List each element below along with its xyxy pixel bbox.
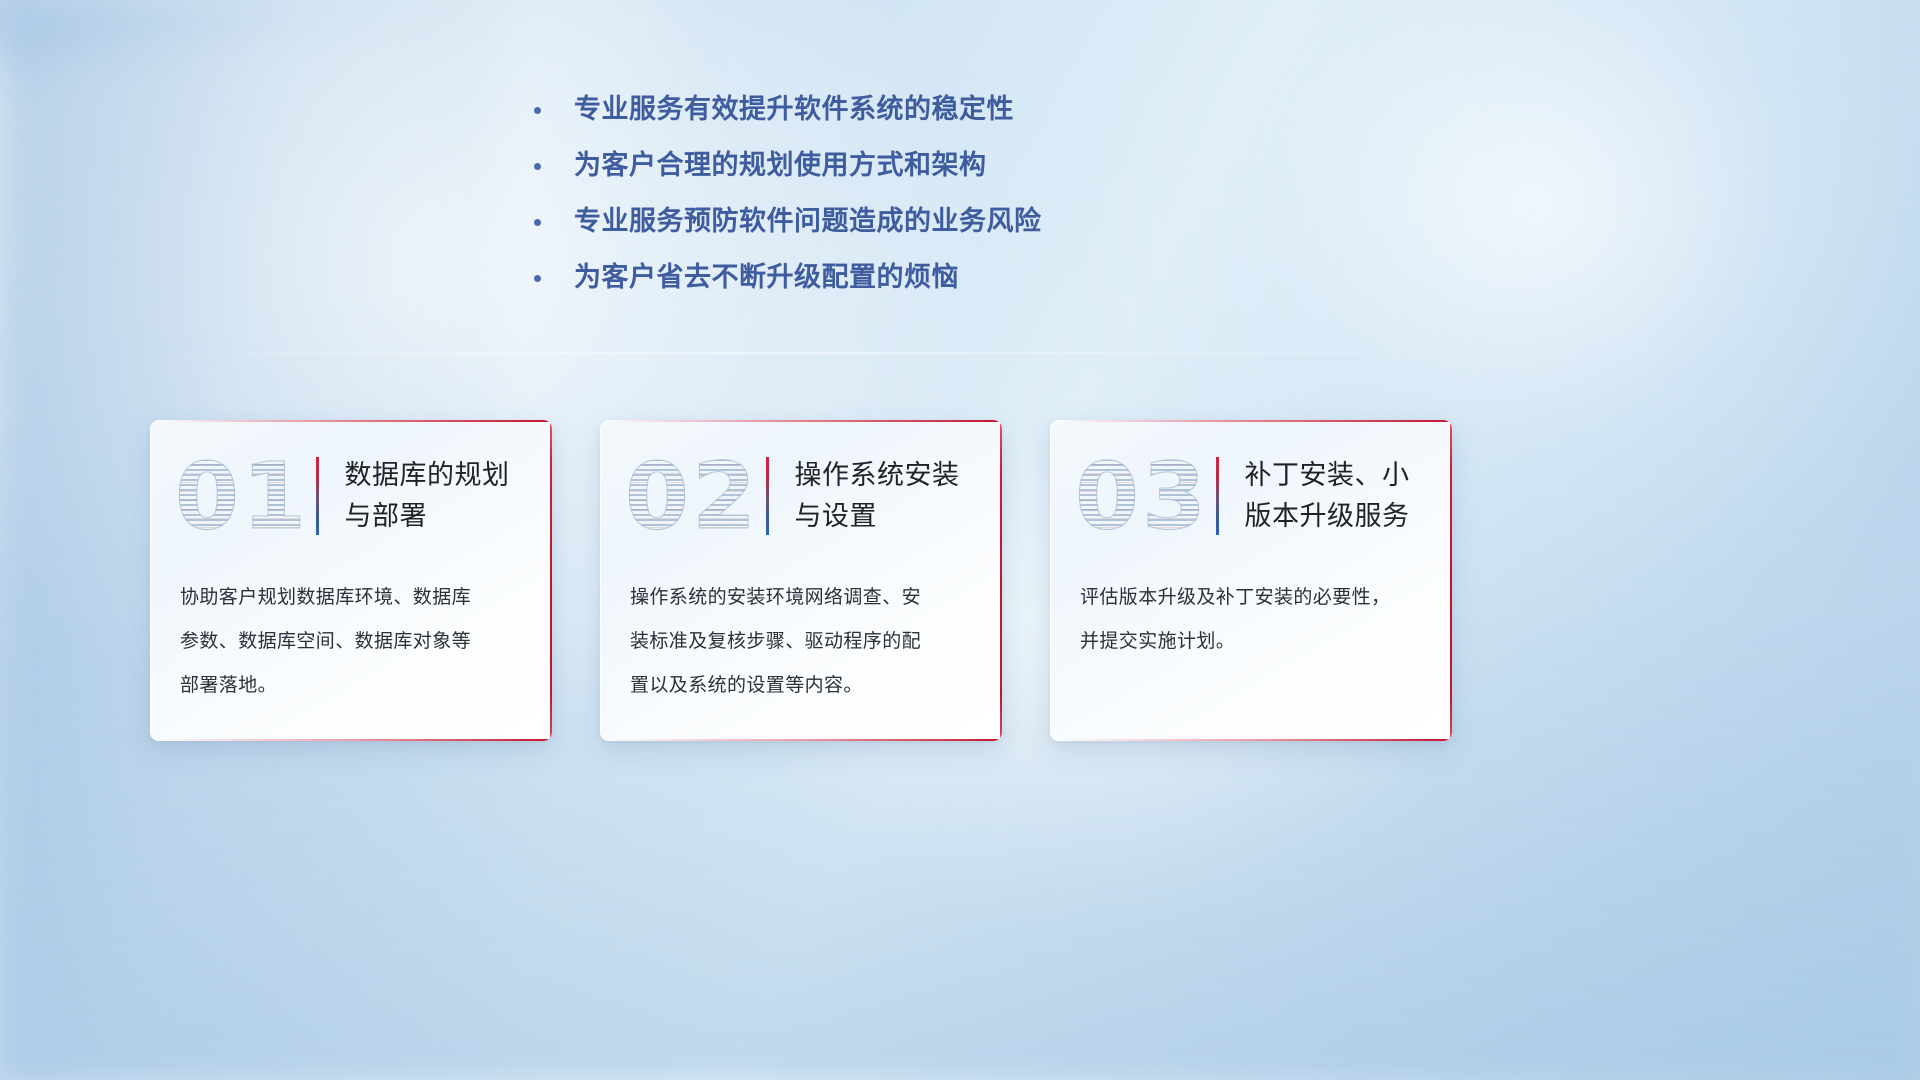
bullet-text: 为客户省去不断升级配置的烦恼	[574, 260, 959, 295]
card-body-line: 参数、数据库空间、数据库对象等	[180, 620, 522, 664]
card-body-line: 协助客户规划数据库环境、数据库	[180, 576, 522, 620]
card-number-watermark: 01 01	[178, 446, 306, 546]
card-number-watermark: 03 03	[1078, 446, 1206, 546]
list-item: 专业服务有效提升软件系统的稳定性	[534, 92, 1234, 127]
service-card-list: 01 01 数据库的规划 与部署 协助客户规划数据库环境、数据库 参数、数据库空…	[150, 420, 1452, 745]
card-number-tint: 02	[628, 446, 756, 546]
service-card[interactable]: 01 01 数据库的规划 与部署 协助客户规划数据库环境、数据库 参数、数据库空…	[150, 420, 552, 741]
card-title-rule	[316, 457, 319, 535]
card-body-line: 装标准及复核步骤、驱动程序的配	[630, 620, 972, 664]
card-header: 02 02 操作系统安装 与设置	[600, 420, 1002, 572]
card-body: 协助客户规划数据库环境、数据库 参数、数据库空间、数据库对象等 部署落地。	[150, 576, 552, 708]
list-item: 专业服务预防软件问题造成的业务风险	[534, 204, 1234, 239]
card-title-rule	[766, 457, 769, 535]
slide-canvas: 专业服务有效提升软件系统的稳定性 为客户合理的规划使用方式和架构 专业服务预防软…	[0, 0, 1920, 1080]
card-title-rule	[1216, 457, 1219, 535]
card-accent-bottom	[610, 739, 1002, 741]
bullet-dot-icon	[534, 107, 541, 114]
card-title-line: 操作系统安装	[795, 455, 960, 496]
list-item: 为客户合理的规划使用方式和架构	[534, 148, 1234, 183]
card-body-line: 操作系统的安装环境网络调查、安	[630, 576, 972, 620]
service-card[interactable]: 02 02 操作系统安装 与设置 操作系统的安装环境网络调查、安 装标准及复核步…	[600, 420, 1002, 741]
card-body-line: 部署落地。	[180, 664, 522, 708]
card-number-tint: 03	[1078, 446, 1206, 546]
bullet-text: 专业服务有效提升软件系统的稳定性	[574, 92, 1014, 127]
card-title-line: 数据库的规划	[345, 455, 510, 496]
card-body-line: 评估版本升级及补丁安装的必要性，	[1080, 576, 1422, 620]
service-card[interactable]: 03 03 补丁安装、小 版本升级服务 评估版本升级及补丁安装的必要性， 并提交…	[1050, 420, 1452, 741]
card-body: 操作系统的安装环境网络调查、安 装标准及复核步骤、驱动程序的配 置以及系统的设置…	[600, 576, 1002, 708]
card-title: 操作系统安装 与设置	[795, 455, 960, 537]
card-title: 补丁安装、小 版本升级服务	[1245, 455, 1410, 537]
card-title-line: 版本升级服务	[1245, 496, 1410, 537]
card-title-line: 与设置	[795, 496, 960, 537]
benefits-bullet-list: 专业服务有效提升软件系统的稳定性 为客户合理的规划使用方式和架构 专业服务预防软…	[534, 92, 1234, 316]
card-title-line: 与部署	[345, 496, 510, 537]
bullet-dot-icon	[534, 219, 541, 226]
bullet-dot-icon	[534, 275, 541, 282]
card-number-watermark: 02 02	[628, 446, 756, 546]
card-title-line: 补丁安装、小	[1245, 455, 1410, 496]
card-body: 评估版本升级及补丁安装的必要性， 并提交实施计划。	[1050, 576, 1452, 664]
bullet-dot-icon	[534, 163, 541, 170]
card-number-tint: 01	[178, 446, 306, 546]
card-body-line: 并提交实施计划。	[1080, 620, 1422, 664]
card-accent-bottom	[1060, 739, 1452, 741]
card-body-line: 置以及系统的设置等内容。	[630, 664, 972, 708]
card-header: 03 03 补丁安装、小 版本升级服务	[1050, 420, 1452, 572]
card-accent-bottom	[160, 739, 552, 741]
bullet-text: 为客户合理的规划使用方式和架构	[574, 148, 987, 183]
list-item: 为客户省去不断升级配置的烦恼	[534, 260, 1234, 295]
bullet-text: 专业服务预防软件问题造成的业务风险	[574, 204, 1042, 239]
section-divider	[150, 348, 1408, 364]
card-header: 01 01 数据库的规划 与部署	[150, 420, 552, 572]
card-title: 数据库的规划 与部署	[345, 455, 510, 537]
